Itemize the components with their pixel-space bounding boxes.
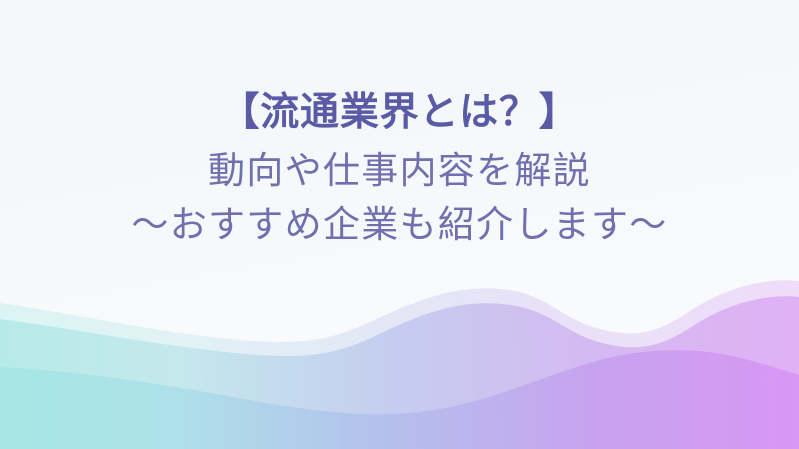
headline-line-secondary: 動向や仕事内容を解説 bbox=[0, 145, 799, 198]
headline-line-primary: 【流通業界とは？】 bbox=[0, 88, 799, 139]
wave-decoration bbox=[0, 259, 799, 449]
headline-block: 【流通業界とは？】 動向や仕事内容を解説 〜おすすめ企業も紹介します〜 bbox=[0, 88, 799, 252]
wave-layer-back bbox=[0, 280, 799, 449]
headline-line-tertiary: 〜おすすめ企業も紹介します〜 bbox=[0, 199, 799, 252]
title-card: 【流通業界とは？】 動向や仕事内容を解説 〜おすすめ企業も紹介します〜 bbox=[0, 0, 799, 449]
wave-layer-middle bbox=[0, 296, 799, 449]
wave-layer-front bbox=[0, 350, 799, 449]
